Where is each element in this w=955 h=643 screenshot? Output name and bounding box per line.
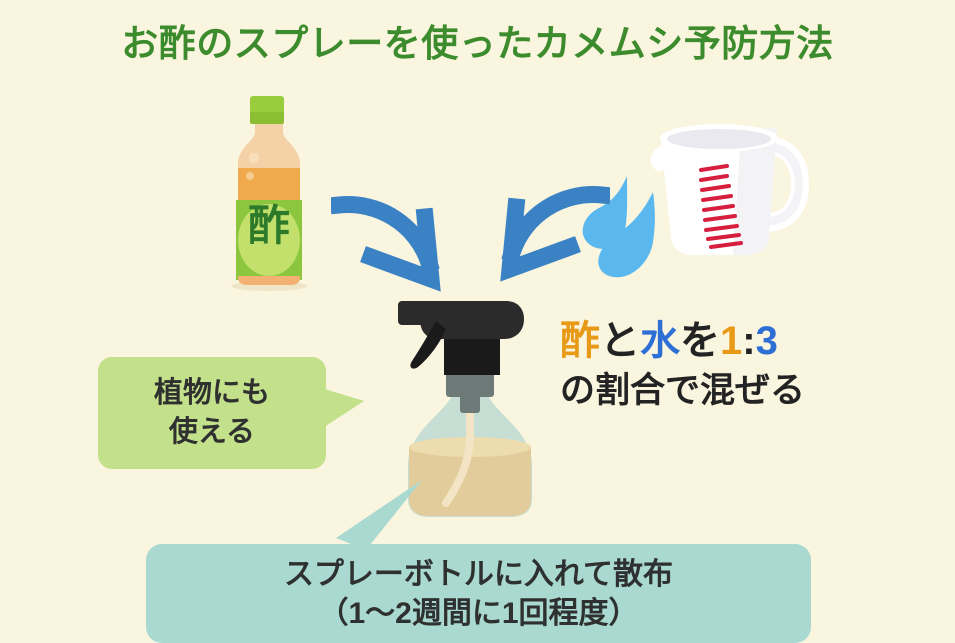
callout-spray-text: スプレーボトルに入れて散布 （1〜2週間に1回程度）: [284, 555, 673, 633]
cup-rim-inner: [667, 129, 771, 149]
vinegar-bottle: 酢: [214, 96, 324, 291]
bottle-cap-band: [250, 112, 284, 124]
bottle-liquid: [238, 168, 300, 200]
callout-plants-text: 植物にも 使える: [154, 374, 270, 452]
mixing-ratio-line2: の割合で混ぜる: [560, 369, 900, 414]
token-wo: を: [680, 319, 720, 363]
infographic-canvas: お酢のスプレーを使ったカメムシ予防方法 酢: [0, 0, 955, 643]
callout-plants: 植物にも 使える: [98, 357, 326, 469]
token-ratio-3: 3: [756, 319, 778, 363]
spray-collar-stem: [460, 387, 480, 413]
page-title: お酢のスプレーを使ったカメムシ予防方法: [0, 13, 955, 67]
spray-nozzle: [398, 301, 430, 325]
arrow-down-right-icon: [331, 191, 459, 299]
bottle-base: [238, 276, 300, 285]
token-to: と: [600, 319, 640, 363]
token-water: 水: [640, 319, 680, 363]
mixing-ratio-text: 酢と水を1:3 の割合で混ぜる: [560, 316, 900, 414]
mixing-ratio-line1: 酢と水を1:3: [560, 316, 900, 367]
bottle-highlight-2: [246, 172, 254, 180]
callout-spray: スプレーボトルに入れて散布 （1〜2週間に1回程度）: [146, 544, 811, 643]
token-colon: :: [742, 319, 755, 363]
token-ratio-1: 1: [720, 319, 742, 363]
bottle-label-character: 酢: [214, 205, 324, 247]
arrow-down-left-icon: [482, 181, 610, 289]
bottle-highlight: [249, 153, 259, 163]
token-vinegar: 酢: [560, 319, 600, 363]
